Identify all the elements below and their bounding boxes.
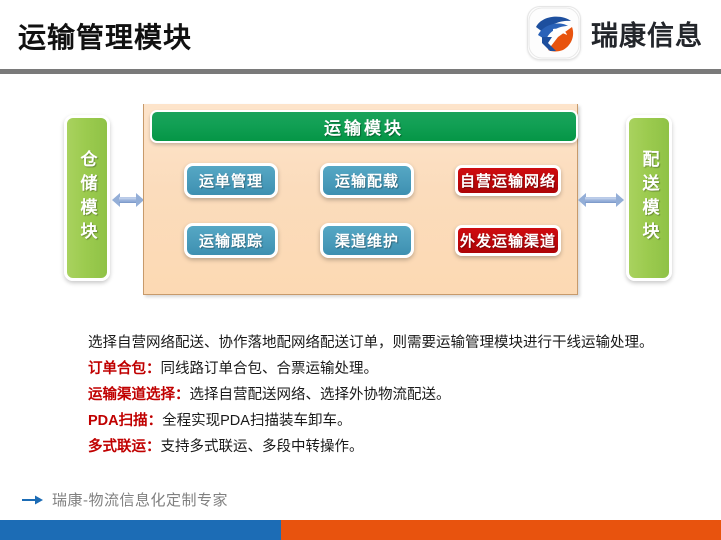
- node-label: 自营运输网络: [460, 170, 556, 191]
- transport-panel-title: 运输模块: [324, 114, 404, 139]
- note-body: 选择自营配送网络、选择外协物流配送。: [190, 387, 451, 403]
- note-tag: 运输渠道选择：: [88, 387, 190, 403]
- double-arrow-left-icon: [112, 193, 144, 207]
- diagram-node-delivery-module[interactable]: 配送模块: [626, 115, 672, 281]
- brand-block: 瑞康信息: [527, 6, 703, 60]
- ruikang-logo-icon: [527, 6, 581, 60]
- note-item: 多式联运：支持多式联运、多段中转操作。: [88, 434, 648, 460]
- diagram-node-transport-loading[interactable]: 运输配载: [320, 163, 414, 198]
- diagram-node-self-operated-network[interactable]: 自营运输网络: [455, 165, 561, 196]
- arrow-shaft: [119, 197, 137, 203]
- note-intro: 选择自营网络配送、协作落地配网络配送订单，则需要运输管理模块进行干线运输处理。: [88, 330, 648, 356]
- note-intro-text: 选择自营网络配送、协作落地配网络配送订单，则需要运输管理模块进行干线运输处理。: [88, 335, 654, 351]
- node-label: 外发运输渠道: [460, 230, 556, 251]
- double-arrow-right-icon: [578, 193, 624, 207]
- diagram-node-waybill-management[interactable]: 运单管理: [184, 163, 278, 198]
- note-item: 订单合包：同线路订单合包、合票运输处理。: [88, 356, 648, 382]
- note-body: 全程实现PDA扫描装车卸车。: [162, 413, 351, 429]
- arrow-head-right: [616, 193, 624, 207]
- note-tag: PDA扫描：: [88, 413, 162, 429]
- notes-list: 选择自营网络配送、协作落地配网络配送订单，则需要运输管理模块进行干线运输处理。 …: [88, 330, 648, 460]
- note-body: 同线路订单合包、合票运输处理。: [161, 361, 379, 377]
- diagram-node-warehouse-module[interactable]: 仓储模块: [64, 115, 110, 281]
- footer-bar-blue-segment: [0, 520, 281, 540]
- warehouse-module-label: 仓储模块: [79, 150, 96, 246]
- note-tag: 多式联运：: [88, 439, 161, 455]
- note-tag: 订单合包：: [88, 361, 161, 377]
- note-item: PDA扫描：全程实现PDA扫描装车卸车。: [88, 408, 648, 434]
- footer-tagline-block: 瑞康-物流信息化定制专家: [22, 489, 228, 510]
- transport-panel-header: 运输模块: [150, 110, 578, 143]
- note-item: 运输渠道选择：选择自营配送网络、选择外协物流配送。: [88, 382, 648, 408]
- footer-color-bar: [0, 520, 721, 540]
- note-body: 支持多式联运、多段中转操作。: [161, 439, 364, 455]
- node-label: 运输配载: [335, 170, 399, 191]
- diagram-node-outsourced-channel[interactable]: 外发运输渠道: [455, 225, 561, 256]
- diagram-node-channel-maintenance[interactable]: 渠道维护: [320, 223, 414, 258]
- node-label: 渠道维护: [335, 230, 399, 251]
- transport-module-diagram: 仓储模块 运输模块 运单管理 运输配载 自营运输网络 运输跟踪 渠道维护 外发运…: [0, 74, 721, 314]
- arrow-right-icon: [22, 494, 44, 506]
- diagram-node-transport-tracking[interactable]: 运输跟踪: [184, 223, 278, 258]
- footer-bar-orange-segment: [281, 520, 721, 540]
- brand-name: 瑞康信息: [591, 14, 703, 53]
- arrow-shaft: [585, 197, 617, 203]
- page-title: 运输管理模块: [18, 16, 192, 56]
- node-label: 运单管理: [199, 170, 263, 191]
- footer-tagline: 瑞康-物流信息化定制专家: [52, 489, 228, 510]
- node-label: 运输跟踪: [199, 230, 263, 251]
- page-header: 运输管理模块 瑞康信息: [0, 0, 721, 70]
- delivery-module-label: 配送模块: [641, 150, 658, 246]
